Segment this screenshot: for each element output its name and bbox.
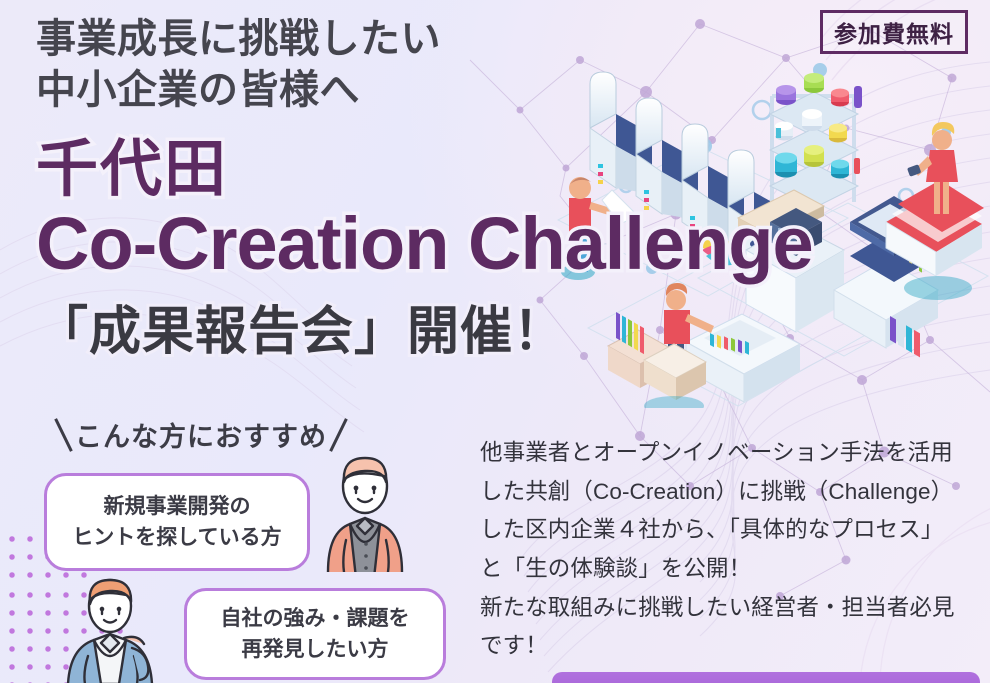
- free-participation-badge-label: 参加費無料: [834, 15, 954, 49]
- person-blue-suit-illustration: [58, 578, 188, 683]
- recommend-item-1-text: 新規事業開発の ヒントを探している方: [72, 491, 281, 554]
- recommend-item-1-line-1: 新規事業開発の: [104, 495, 251, 518]
- title-subtitle: 「成果報告会」開催！: [36, 289, 813, 364]
- slash-right-icon: [329, 418, 347, 452]
- recommend-item-1: 新規事業開発の ヒントを探している方: [44, 473, 310, 571]
- bottom-accent-bar: [552, 672, 980, 683]
- lede-heading: 事業成長に挑戦したい 中小企業の皆様へ: [36, 14, 441, 116]
- recommend-item-2-line-1: 自社の強み・課題を: [221, 607, 410, 630]
- title-japanese: 千代田: [36, 140, 813, 201]
- recommend-item-2-text: 自社の強み・課題を 再発見したい方: [221, 603, 410, 666]
- recommend-item-2-line-2: 再発見したい方: [242, 638, 389, 661]
- lede-line-2: 中小企業の皆様へ: [36, 65, 441, 116]
- person-salmon-jacket-illustration: [310, 452, 420, 572]
- description-text: 他事業者とオープンイノベーション手法を活用した共創（Co-Creation）に挑…: [480, 434, 960, 666]
- lede-line-1: 事業成長に挑戦したい: [36, 14, 441, 65]
- poster-canvas: 参加費無料 事業成長に挑戦したい 中小企業の皆様へ 千代田 Co-Creatio…: [0, 0, 990, 683]
- recommend-item-1-line-2: ヒントを探している方: [72, 526, 281, 549]
- title-english: Co-Creation Challenge: [36, 205, 813, 283]
- slash-left-icon: [54, 418, 72, 452]
- free-participation-badge: 参加費無料: [820, 10, 968, 54]
- recommend-heading: こんな方におすすめ: [62, 415, 340, 454]
- recommend-item-2: 自社の強み・課題を 再発見したい方: [184, 588, 446, 680]
- page-title: 千代田 Co-Creation Challenge 「成果報告会」開催！: [36, 140, 813, 364]
- recommend-heading-label: こんな方におすすめ: [75, 415, 327, 454]
